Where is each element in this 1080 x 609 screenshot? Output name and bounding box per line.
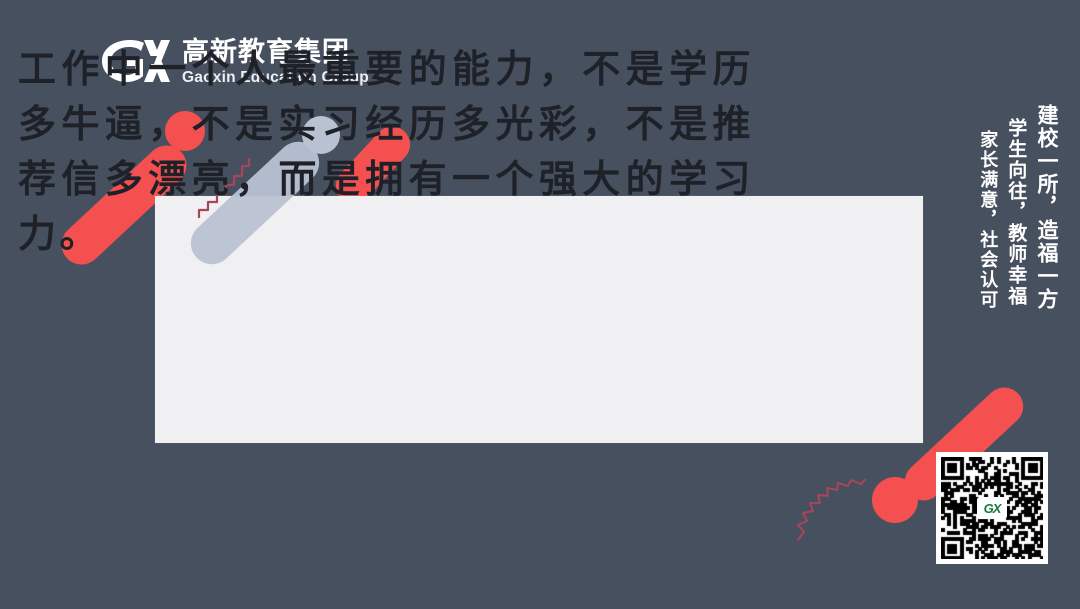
slogan-column-1: 建校一所，造福一方 xyxy=(1032,104,1060,311)
wechat-qr-code[interactable]: GX xyxy=(936,452,1048,564)
slogan-column-2: 学生向往，教师幸福 xyxy=(1003,118,1028,311)
poster-canvas: 工作中一个人最重要的能力，不是学历多牛逼，不是实习经历多光彩，不是推荐信多漂亮，… xyxy=(0,0,1080,609)
slogan-column-3: 家长满意，社会认可 xyxy=(975,130,999,311)
qr-center-logo: GX xyxy=(977,497,1007,519)
squiggle-line-bottom-icon xyxy=(795,478,873,544)
red-circle-decor-bottom xyxy=(872,477,918,523)
quote-text: 工作中一个人最重要的能力，不是学历多牛逼，不是实习经历多光彩，不是推荐信多漂亮，… xyxy=(18,42,754,262)
slogan-group: 建校一所，造福一方 学生向往，教师幸福 家长满意，社会认可 xyxy=(975,104,1060,311)
